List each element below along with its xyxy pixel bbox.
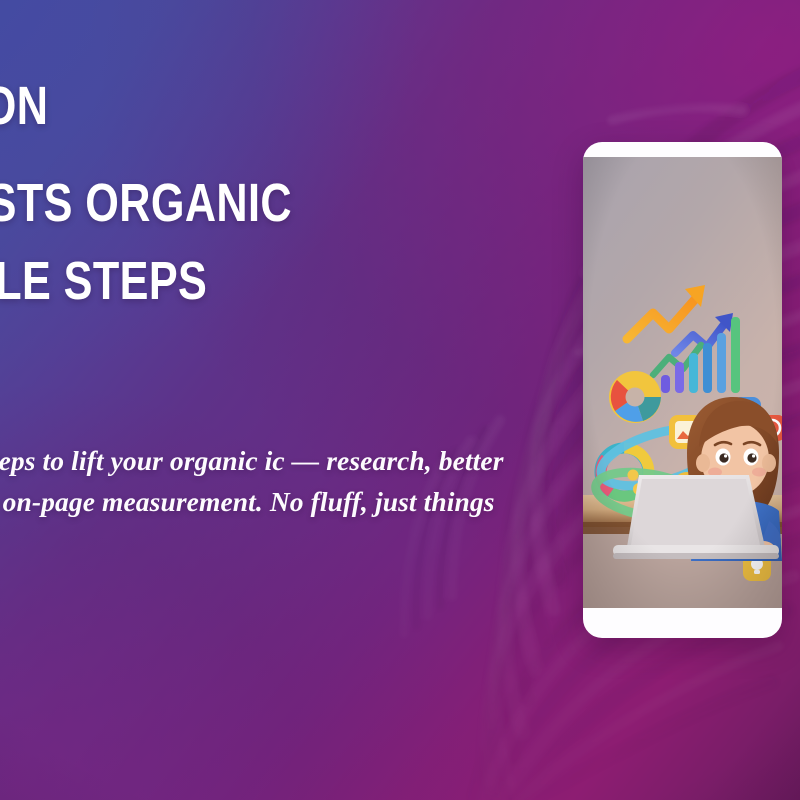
illustration-image: </> [583,157,782,608]
headline-block: ANNON BOOSTS ORGANIC SIMPLE STEPS [0,78,548,310]
page-title: ANNON BOOSTS ORGANIC SIMPLE STEPS [0,78,416,310]
promo-graphic-canvas: ANNON BOOSTS ORGANIC SIMPLE STEPS cal AI… [0,0,800,800]
illustration-card: </> [583,142,782,638]
headline-line-1: ANNON [0,78,416,135]
body-paragraph: cal AI steps to lift your organic ic — r… [0,440,564,564]
headline-line-3: SIMPLE STEPS [0,253,416,310]
headline-line-2: BOOSTS ORGANIC [0,175,416,232]
